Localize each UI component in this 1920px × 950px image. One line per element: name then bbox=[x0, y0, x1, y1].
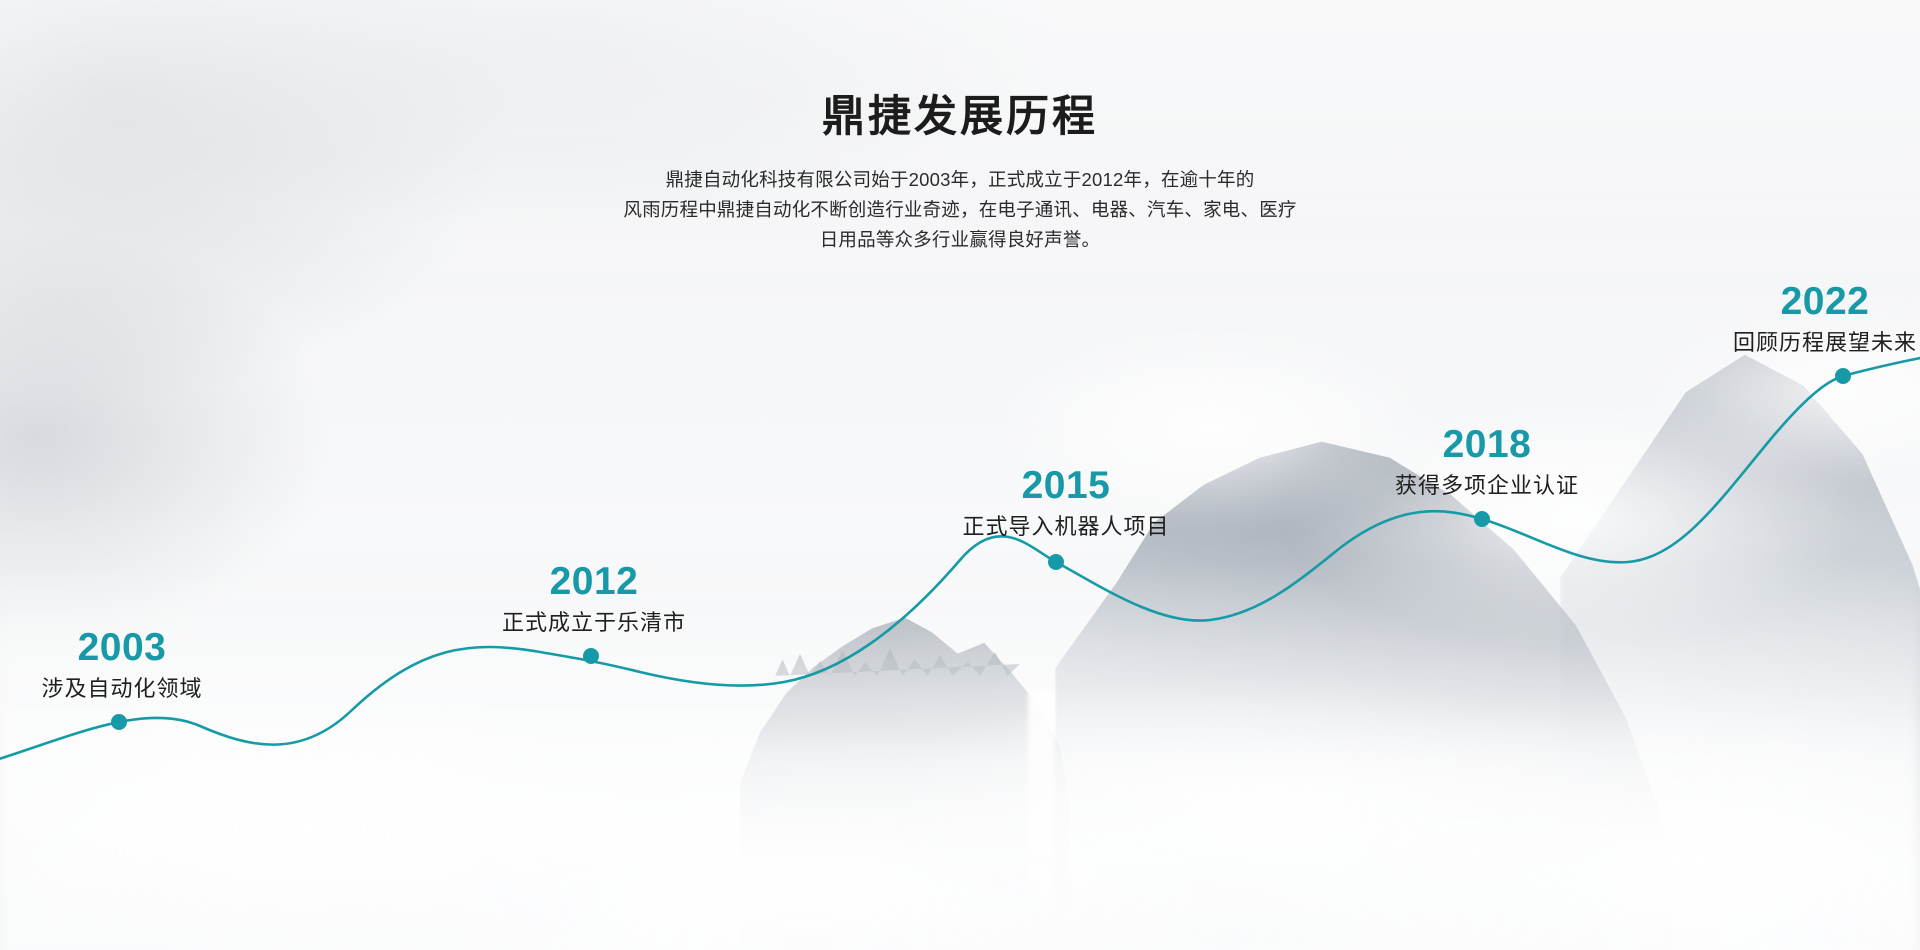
milestone-label-2003: 涉及自动化领域 bbox=[41, 676, 202, 702]
intro-paragraph: 鼎捷自动化科技有限公司始于2003年，正式成立于2012年，在逾十年的 风雨历程… bbox=[580, 165, 1340, 255]
header: 鼎捷发展历程 鼎捷自动化科技有限公司始于2003年，正式成立于2012年，在逾十… bbox=[0, 92, 1920, 255]
intro-line-1: 鼎捷自动化科技有限公司始于2003年，正式成立于2012年，在逾十年的 bbox=[580, 165, 1340, 195]
milestone-label-2012: 正式成立于乐清市 bbox=[502, 610, 686, 636]
milestone-label-2018: 获得多项企业认证 bbox=[1395, 473, 1579, 499]
intro-line-2: 风雨历程中鼎捷自动化不断创造行业奇迹，在电子通讯、电器、汽车、家电、医疗 bbox=[580, 195, 1340, 225]
milestone-label-2022: 回顾历程展望未来 bbox=[1733, 330, 1917, 356]
milestone-year-2018: 2018 bbox=[1395, 425, 1579, 464]
milestone-dot-2003[interactable] bbox=[111, 714, 127, 730]
milestone-2022[interactable]: 2022回顾历程展望未来 bbox=[1733, 282, 1917, 356]
milestone-2003[interactable]: 2003涉及自动化领域 bbox=[41, 628, 202, 702]
intro-line-3: 日用品等众多行业赢得良好声誉。 bbox=[580, 225, 1340, 255]
milestone-year-2012: 2012 bbox=[502, 562, 686, 601]
timeline-page: 鼎捷发展历程 鼎捷自动化科技有限公司始于2003年，正式成立于2012年，在逾十… bbox=[0, 0, 1920, 950]
timeline-wave-path bbox=[0, 352, 1920, 768]
milestone-dot-2018[interactable] bbox=[1474, 511, 1490, 527]
milestone-dot-2015[interactable] bbox=[1048, 554, 1064, 570]
milestone-year-2003: 2003 bbox=[41, 628, 202, 667]
milestone-2015[interactable]: 2015正式导入机器人项目 bbox=[962, 466, 1169, 540]
timeline-dot-group bbox=[111, 368, 1851, 730]
milestone-dot-2012[interactable] bbox=[583, 648, 599, 664]
milestone-2012[interactable]: 2012正式成立于乐清市 bbox=[502, 562, 686, 636]
milestone-label-2015: 正式导入机器人项目 bbox=[962, 514, 1169, 540]
milestone-year-2022: 2022 bbox=[1733, 282, 1917, 321]
milestone-2018[interactable]: 2018获得多项企业认证 bbox=[1395, 425, 1579, 499]
milestone-year-2015: 2015 bbox=[962, 466, 1169, 505]
page-title: 鼎捷发展历程 bbox=[0, 92, 1920, 143]
milestone-dot-2022[interactable] bbox=[1835, 368, 1851, 384]
